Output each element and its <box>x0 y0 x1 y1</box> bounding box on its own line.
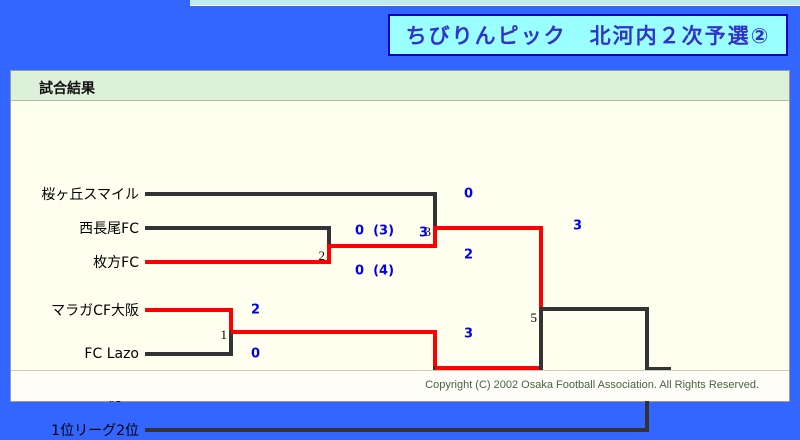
team-label: 枚方FC <box>93 252 139 272</box>
copyright-text: Copyright (C) 2002 Osaka Football Associ… <box>425 379 759 391</box>
team-label: 桜ヶ丘スマイル <box>41 184 139 204</box>
page-title-banner: ちびりんピック 北河内２次予選② <box>388 14 788 56</box>
bracket-entry-line <box>145 226 329 230</box>
match-number: 1 <box>221 327 228 343</box>
team-label: FC Lazo <box>84 346 139 362</box>
match-score: 2 <box>251 303 260 318</box>
match-score: 0 (4) <box>355 264 394 279</box>
match-output-3 <box>435 226 541 230</box>
match-score: 0 <box>464 187 473 202</box>
page-title: ちびりんピック 北河内２次予選② <box>406 20 771 50</box>
content-panel: 試合結果 桜ヶ丘スマイル西長尾FC枚方FCマラガCF大阪FC Lazo梶FC1位… <box>10 70 790 402</box>
match-output-5 <box>541 307 647 311</box>
tournament-bracket: 桜ヶ丘スマイル西長尾FC枚方FCマラガCF大阪FC Lazo梶FC1位リーグ2位… <box>11 102 789 371</box>
match-score: 0 (3) <box>355 224 394 239</box>
footer: Copyright (C) 2002 Osaka Football Associ… <box>11 370 789 401</box>
section-header-label: 試合結果 <box>39 78 95 98</box>
match-number: 2 <box>319 248 326 264</box>
team-label: 西長尾FC <box>79 218 139 238</box>
match-score: 3 <box>419 226 428 241</box>
section-header: 試合結果 <box>11 71 789 101</box>
match-score: 0 <box>251 347 260 362</box>
bracket-entry-line <box>145 308 231 312</box>
match-score: 3 <box>573 219 582 234</box>
match-output-2 <box>329 244 435 248</box>
match-connector-4-upper <box>433 330 437 370</box>
team-label: 1位リーグ2位 <box>51 420 139 440</box>
bracket-entry-line <box>145 192 435 196</box>
match-number: 5 <box>531 310 538 326</box>
match-connector-3-upper <box>433 192 437 230</box>
top-decorative-strip <box>190 0 800 6</box>
bracket-entry-line <box>145 260 329 264</box>
bracket-entry-line <box>145 428 647 432</box>
match-connector-5-lower <box>539 307 543 370</box>
match-score: 3 <box>464 327 473 342</box>
bracket-entry-line <box>145 352 231 356</box>
match-score: 2 <box>464 248 473 263</box>
match-connector-5-upper <box>539 226 543 311</box>
team-label: マラガCF大阪 <box>51 300 139 320</box>
match-output-1 <box>231 330 435 334</box>
